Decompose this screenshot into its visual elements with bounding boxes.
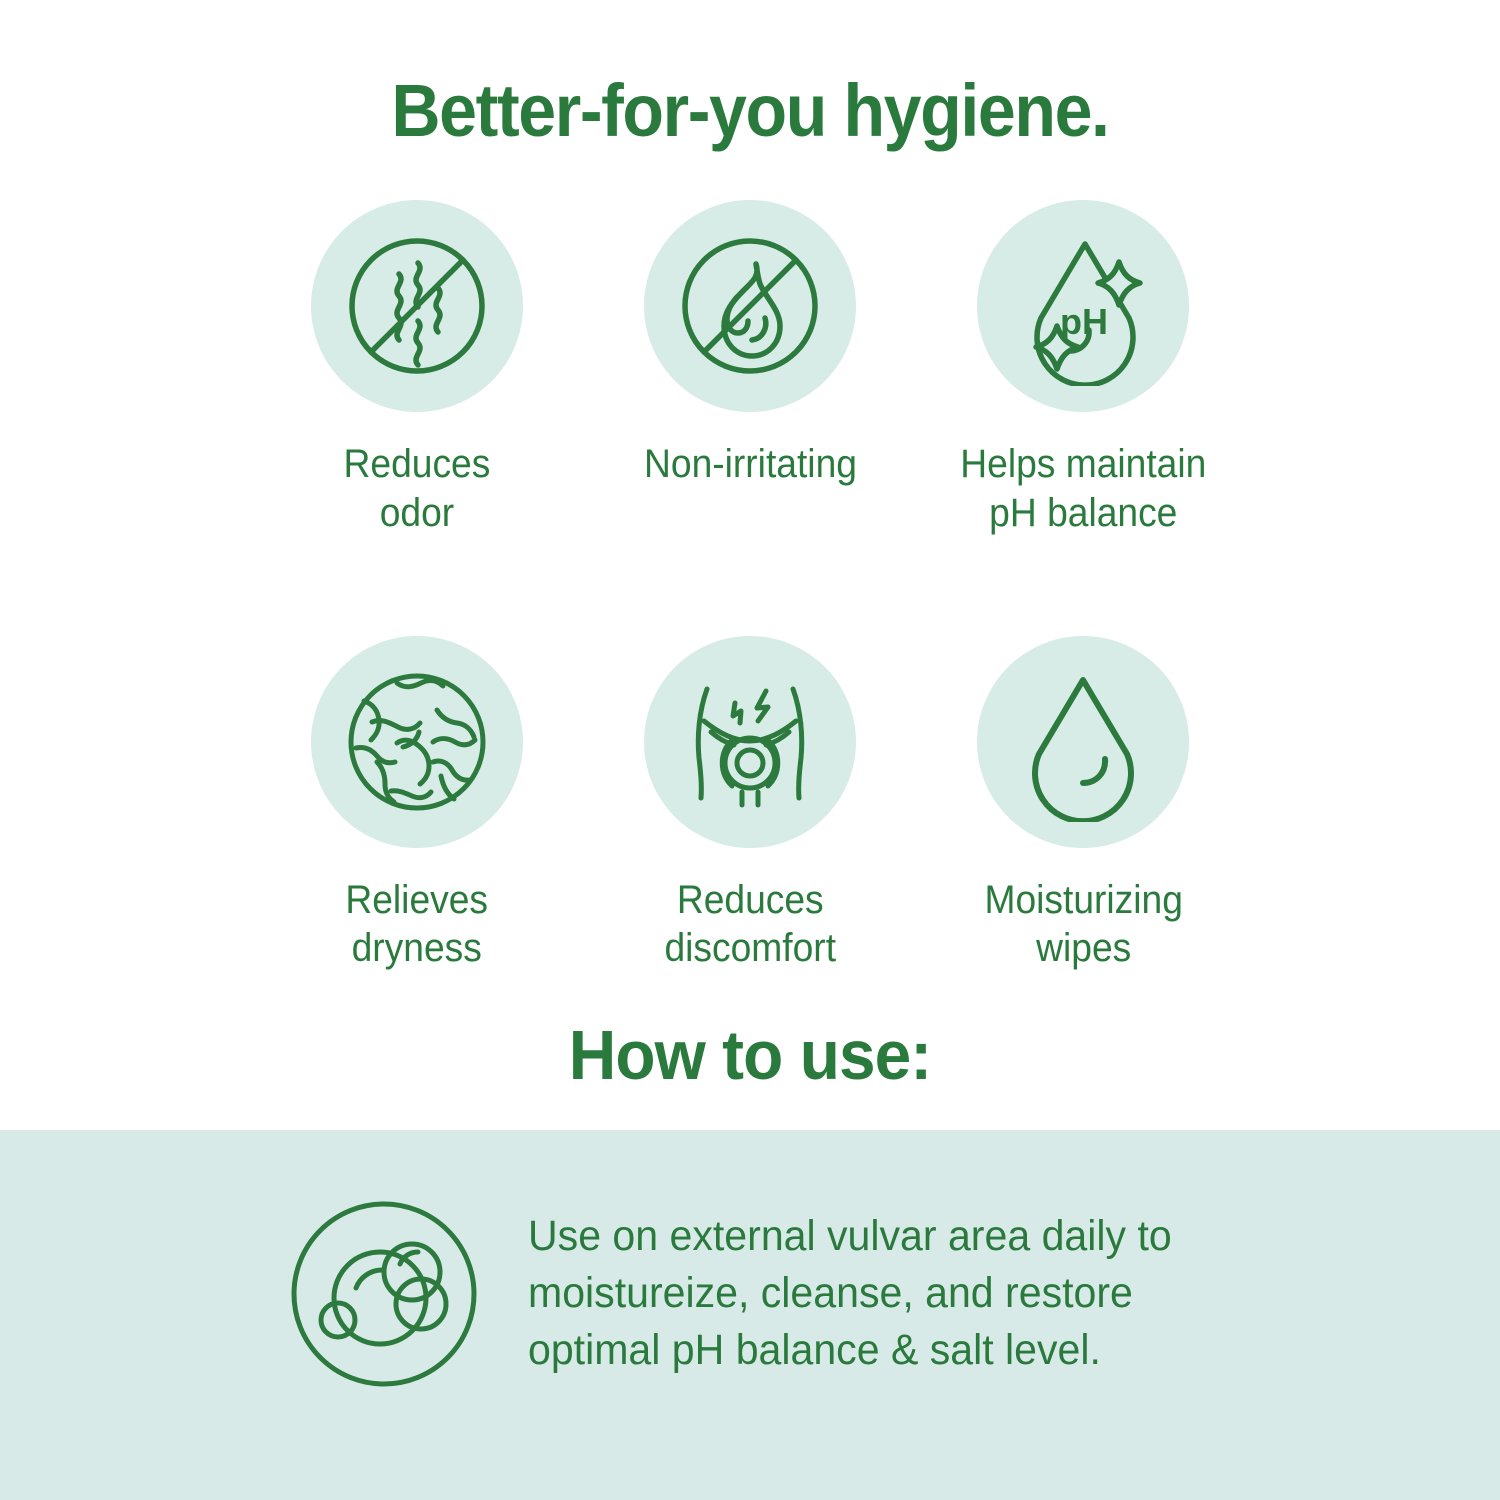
no-odor-icon [311,200,523,412]
page-title: Better-for-you hygiene. [60,74,1440,148]
benefit-label: Helps maintainpH balance [960,440,1206,538]
ph-droplet-sparkle-icon: pH [977,200,1189,412]
howto-heading: How to use: [45,1020,1455,1090]
benefit-item: Reducesodor [250,200,583,538]
howto-instruction: Use on external vulvar area daily to moi… [528,1208,1254,1380]
bubbles-icon [288,1198,480,1390]
howto-panel-inner: Use on external vulvar area daily to moi… [288,1198,1288,1390]
benefits-grid: Reducesodor Non-irritating [250,200,1250,973]
pelvic-discomfort-icon [644,636,856,848]
howto-panel: Use on external vulvar area daily to moi… [0,1130,1500,1500]
dry-cracked-skin-icon [311,636,523,848]
benefit-label: Reducesdiscomfort [664,876,836,974]
benefit-label: Moisturizingwipes [984,876,1182,974]
benefit-label: Reducesodor [343,440,490,538]
benefit-label: Non-irritating [644,440,857,489]
benefit-item: Moisturizingwipes [917,636,1250,974]
benefit-item: Non-irritating [583,200,916,538]
water-droplet-icon [977,636,1189,848]
ph-label: pH [1060,301,1108,342]
benefit-item: Reducesdiscomfort [583,636,916,974]
benefit-item: pH Helps maintainpH balance [917,200,1250,538]
infographic-page: Better-for-you hygiene. Reducesodor [0,0,1500,1500]
benefit-item: Relievesdryness [250,636,583,974]
benefit-label: Relievesdryness [345,876,488,974]
no-flame-icon [644,200,856,412]
